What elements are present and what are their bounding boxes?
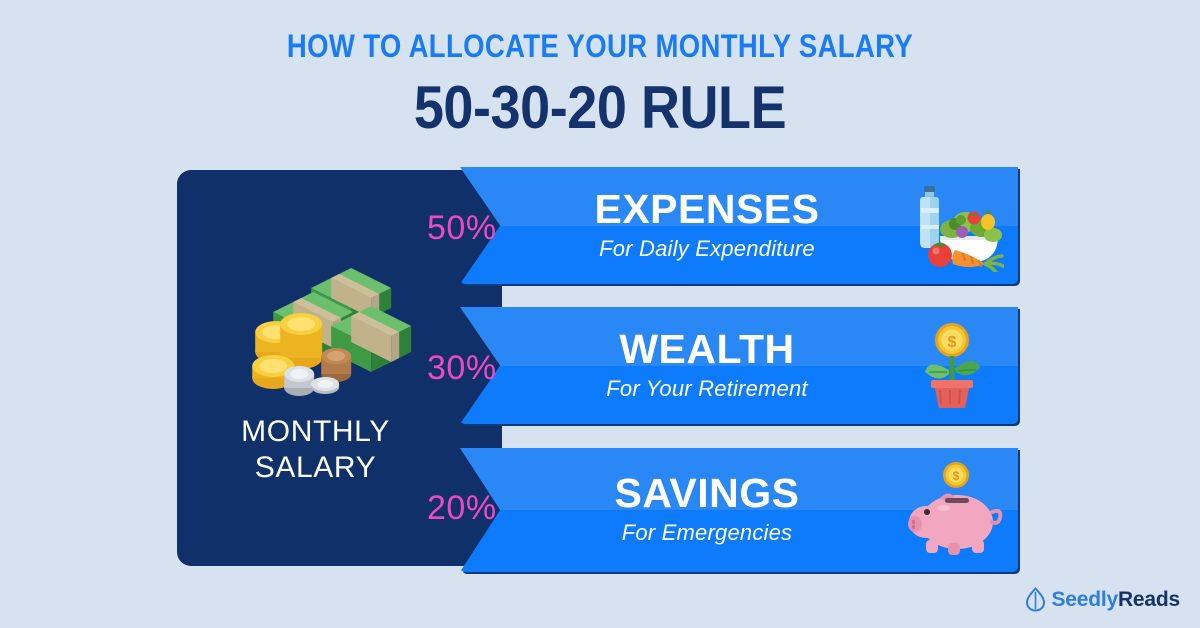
banner-text-block: WEALTH For Your Retirement (532, 328, 900, 404)
percent-label-expenses: 50% (427, 209, 497, 248)
banner-content: EXPENSES For Daily Expenditure (460, 167, 1018, 284)
allocation-banner-expenses[interactable]: EXPENSES For Daily Expenditure (460, 167, 1018, 284)
piggy-bank-icon: $ (900, 460, 1004, 560)
page-title: 50-30-20 RULE (60, 73, 1140, 142)
banner-text-block: EXPENSES For Daily Expenditure (532, 188, 900, 264)
money-plant-icon: $ (900, 320, 1004, 412)
logo-word-reads: Reads (1118, 588, 1180, 611)
banner-title-savings: SAVINGS (532, 470, 882, 516)
monthly-salary-label-line2: SALARY (177, 450, 454, 486)
monthly-salary-label-line1: MONTHLY (177, 414, 454, 450)
banner-title-expenses: EXPENSES (532, 186, 882, 232)
banner-subtitle-savings: For Emergencies (532, 518, 882, 548)
svg-text:$: $ (953, 469, 960, 483)
percent-label-wealth: 30% (427, 349, 497, 388)
page-kicker: HOW TO ALLOCATE YOUR MONTHLY SALARY (84, 28, 1116, 65)
money-stacks-icon (239, 266, 419, 398)
header: HOW TO ALLOCATE YOUR MONTHLY SALARY 50-3… (0, 0, 1200, 152)
allocation-banner-wealth[interactable]: WEALTH For Your Retirement $ (460, 307, 1018, 424)
percent-label-savings: 20% (427, 489, 497, 528)
banner-subtitle-expenses: For Daily Expenditure (532, 234, 882, 264)
logo-wordmark: SeedlyReads (1051, 587, 1180, 612)
monthly-salary-label: MONTHLY SALARY (177, 414, 502, 486)
banner-text-block: SAVINGS For Emergencies (532, 472, 900, 548)
logo-word-seedly: Seedly (1051, 588, 1118, 611)
allocation-banner-savings[interactable]: SAVINGS For Emergencies $ (460, 448, 1018, 572)
leaf-droplet-icon (1025, 587, 1046, 612)
banner-content: WEALTH For Your Retirement $ (460, 307, 1018, 424)
svg-text:$: $ (948, 334, 957, 351)
banner-title-wealth: WEALTH (532, 326, 882, 372)
groceries-salad-icon (900, 180, 1004, 272)
banner-content: SAVINGS For Emergencies $ (460, 448, 1018, 572)
seedly-reads-logo[interactable]: SeedlyReads (1025, 585, 1180, 613)
banner-subtitle-wealth: For Your Retirement (532, 374, 882, 404)
